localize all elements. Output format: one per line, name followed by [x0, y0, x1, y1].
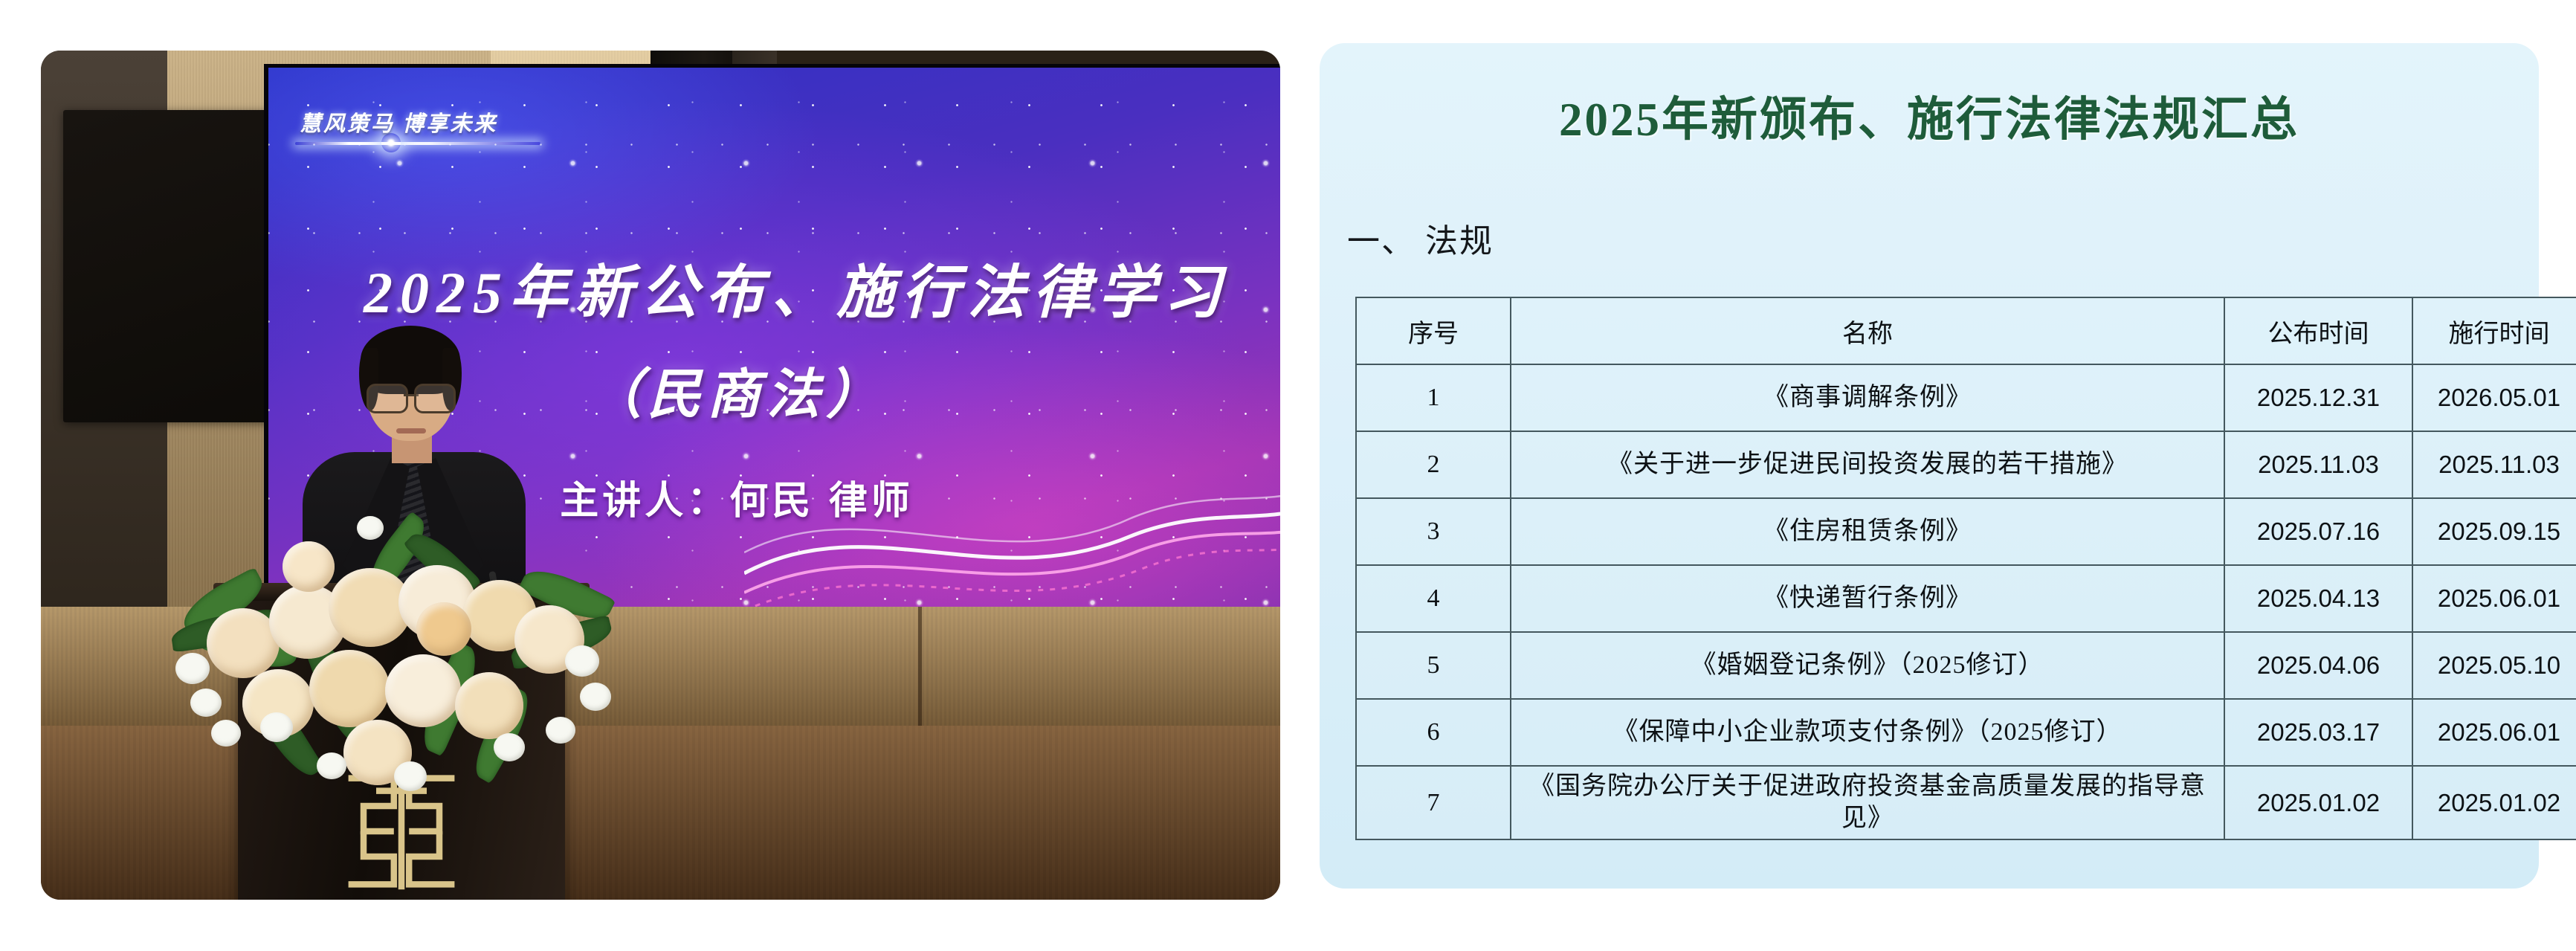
cell-index: 2	[1356, 431, 1511, 498]
cell-name: 《快递暂行条例》	[1511, 565, 2224, 632]
cell-index: 7	[1356, 766, 1511, 839]
cell-effective: 2025.11.03	[2412, 431, 2576, 498]
table-row: 4 《快递暂行条例》 2025.04.13 2025.06.01	[1356, 565, 2576, 632]
cell-effective: 2025.05.10	[2412, 632, 2576, 699]
light-ribbon-graphic	[744, 454, 1280, 610]
speaker-mouth	[396, 428, 426, 433]
cell-effective: 2026.05.01	[2412, 364, 2576, 431]
cell-index: 3	[1356, 498, 1511, 565]
page-title: 2025年新颁布、施行法律法规汇总	[1320, 82, 2539, 149]
column-header-effective: 施行时间	[2412, 297, 2576, 364]
cell-published: 2025.12.31	[2224, 364, 2412, 431]
cell-name: 《国务院办公厅关于促进政府投资基金高质量发展的指导意见》	[1511, 766, 2224, 839]
cell-index: 6	[1356, 699, 1511, 766]
table-row: 2 《关于进一步促进民间投资发展的若干措施》 2025.11.03 2025.1…	[1356, 431, 2576, 498]
table-header-row: 序号 名称 公布时间 施行时间	[1356, 297, 2576, 364]
cell-index: 5	[1356, 632, 1511, 699]
table-row: 5 《婚姻登记条例》（2025修订） 2025.04.06 2025.05.10	[1356, 632, 2576, 699]
cell-index: 4	[1356, 565, 1511, 632]
cell-effective: 2025.06.01	[2412, 699, 2576, 766]
eyeglasses-icon	[367, 384, 456, 409]
cell-name: 《商事调解条例》	[1511, 364, 2224, 431]
lecture-photo: 慧风策马 博享未来 2025年新公布、施行法律学习 （民商法） 主讲人：何民 律…	[41, 51, 1280, 900]
cell-published: 2025.01.02	[2224, 766, 2412, 839]
cell-name: 《婚姻登记条例》（2025修订）	[1511, 632, 2224, 699]
cell-published: 2025.04.13	[2224, 565, 2412, 632]
table-row: 1 《商事调解条例》 2025.12.31 2026.05.01	[1356, 364, 2576, 431]
table-row: 6 《保障中小企业款项支付条例》（2025修订） 2025.03.17 2025…	[1356, 699, 2576, 766]
cell-name: 《关于进一步促进民间投资发展的若干措施》	[1511, 431, 2224, 498]
cell-name: 《住房租赁条例》	[1511, 498, 2224, 565]
column-header-published: 公布时间	[2224, 297, 2412, 364]
column-header-name: 名称	[1511, 297, 2224, 364]
cell-effective: 2025.06.01	[2412, 565, 2576, 632]
column-header-index: 序号	[1356, 297, 1511, 364]
cell-index: 1	[1356, 364, 1511, 431]
cell-name: 《保障中小企业款项支付条例》（2025修订）	[1511, 699, 2224, 766]
slogan-underline-glow	[295, 142, 540, 145]
law-summary-panel: 2025年新颁布、施行法律法规汇总 一、 法规 序号 名称 公布时间 施行时间 …	[1320, 43, 2539, 889]
section-heading: 一、 法规	[1347, 214, 1494, 262]
cell-effective: 2025.09.15	[2412, 498, 2576, 565]
cell-published: 2025.04.06	[2224, 632, 2412, 699]
cell-published: 2025.11.03	[2224, 431, 2412, 498]
cell-published: 2025.07.16	[2224, 498, 2412, 565]
screen-title: 2025年新公布、施行法律学习	[298, 246, 1280, 329]
cell-effective: 2025.01.02	[2412, 766, 2576, 839]
screen-slogan: 慧风策马 博享未来	[300, 106, 497, 138]
table-row: 7 《国务院办公厅关于促进政府投资基金高质量发展的指导意见》 2025.01.0…	[1356, 766, 2576, 839]
table-row: 3 《住房租赁条例》 2025.07.16 2025.09.15	[1356, 498, 2576, 565]
flower-arrangement	[171, 497, 632, 809]
law-table: 序号 名称 公布时间 施行时间 1 《商事调解条例》 2025.12.31 20…	[1355, 297, 2576, 840]
stage-seam	[918, 607, 922, 729]
cell-published: 2025.03.17	[2224, 699, 2412, 766]
